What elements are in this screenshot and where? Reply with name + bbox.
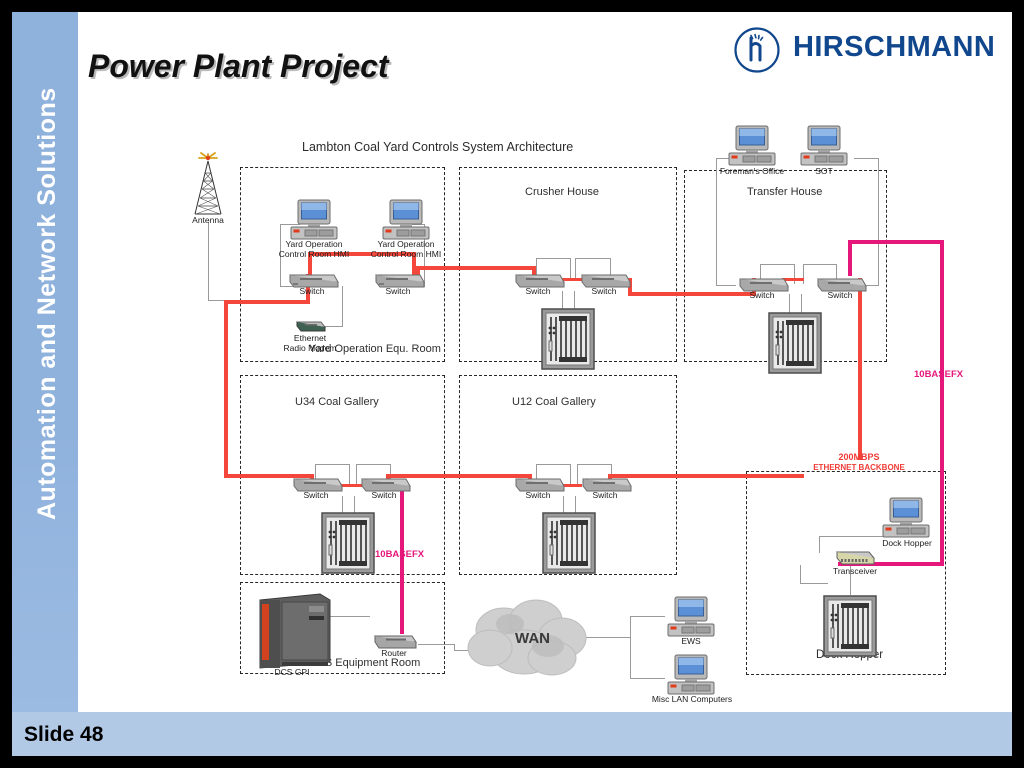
link-crusher-sw1-top	[536, 258, 570, 259]
link-foremans-down	[716, 158, 717, 285]
switch-label: Switch	[284, 491, 348, 501]
link-u34-sw2-top	[356, 464, 390, 465]
wan-label: WAN	[515, 630, 550, 647]
link-dh-xcvr-v	[800, 565, 801, 583]
fiber-left-down	[400, 486, 404, 634]
backbone-u12-to-label	[608, 474, 804, 478]
switch-label: Switch	[506, 491, 570, 501]
backbone-left-top	[224, 300, 310, 304]
zone-label-u12-coal-gallery: U12 Coal Gallery	[512, 396, 596, 408]
backbone-label: 200MBPS ETHERNET BACKBONE	[784, 452, 934, 473]
backbone-label-line2: ETHERNET BACKBONE	[784, 463, 934, 473]
backbone-label-line1: 200MBPS	[784, 452, 934, 463]
switch-label: Switch	[572, 287, 636, 297]
switch-label: Switch	[352, 491, 416, 501]
hmi-1-label-line2: Control Room HMI	[266, 250, 362, 260]
backbone-th-down	[858, 278, 862, 460]
fiber-label-right: 10BASEFX	[914, 369, 963, 380]
antenna-icon	[188, 152, 228, 222]
equipment-rack-icon	[768, 312, 822, 374]
link-th-sw2-top	[803, 264, 836, 265]
link-u12-sw2-top	[577, 464, 611, 465]
switch-label: Switch	[808, 291, 872, 301]
link-dh-pc-v	[819, 536, 820, 553]
transceiver-icon	[833, 549, 877, 567]
misc-lan-label: Misc LAN Computers	[641, 695, 743, 705]
zone-label-u34-coal-gallery: U34 Coal Gallery	[295, 396, 379, 408]
dcs-gpi-label: DCS GPI	[252, 668, 332, 678]
backbone-left-riser	[224, 300, 228, 478]
pc-icon	[726, 124, 778, 168]
switch-label: Switch	[280, 287, 344, 297]
link-crusher-sw2-top	[575, 258, 610, 259]
sot-label: SOT	[798, 167, 850, 177]
pc-icon	[288, 198, 340, 242]
antenna-label: Antenna	[176, 216, 240, 226]
pc-icon	[798, 124, 850, 168]
transceiver-label: Transceiver	[818, 567, 892, 577]
radio-modem-label-line2: Radio Modem	[274, 344, 346, 354]
link-dh-pc-h	[819, 536, 884, 537]
link-router-wan-h	[418, 644, 454, 645]
fiber-right-left-stub	[848, 240, 852, 276]
link-wan-ews	[630, 616, 665, 617]
hmi-2-label: Yard Operation Control Room HMI	[358, 240, 454, 260]
hmi-2-label-line2: Control Room HMI	[358, 250, 454, 260]
link-crusher-sw1-down	[570, 258, 571, 280]
slide-number: Slide 48	[24, 723, 103, 747]
link-foremans-bottom	[716, 285, 736, 286]
router-label: Router	[364, 649, 424, 659]
link-u12-sw1-top	[536, 464, 570, 465]
pc-icon	[380, 198, 432, 242]
equipment-rack-icon	[823, 595, 877, 657]
fiber-label-left: 10BASEFX	[375, 549, 424, 560]
switch-label: Switch	[506, 287, 570, 297]
radio-modem-icon	[293, 319, 327, 333]
pc-icon	[665, 653, 717, 697]
equipment-rack-icon	[321, 512, 375, 574]
zone-label-transfer-house: Transfer House	[747, 186, 822, 198]
link-antenna-down	[208, 222, 209, 300]
fiber-right-down	[940, 240, 944, 566]
ews-label: EWS	[665, 637, 717, 647]
link-sot-down	[878, 158, 879, 285]
diagram-title: Lambton Coal Yard Controls System Archit…	[302, 140, 573, 154]
hmi-1-label: Yard Operation Control Room HMI	[266, 240, 362, 260]
link-th-sw1-down	[794, 264, 795, 284]
link-u12-sw1-down	[570, 464, 571, 484]
pc-icon	[880, 496, 932, 540]
dock-hopper-pc-label: Dock Hopper	[874, 539, 940, 549]
link-th-sw1-top	[760, 264, 794, 265]
link-u34-sw1-down	[349, 464, 350, 484]
network-diagram: Lambton Coal Yard Controls System Archit…	[12, 12, 1012, 712]
foremans-office-label: Foreman's Office	[714, 167, 790, 177]
zone-label-crusher-house: Crusher House	[525, 186, 599, 198]
equipment-rack-icon	[541, 308, 595, 370]
equipment-rack-icon	[542, 512, 596, 574]
link-th-rack-2	[801, 294, 802, 314]
pc-icon	[665, 595, 717, 639]
link-wan-misc	[630, 678, 665, 679]
switch-label: Switch	[730, 291, 794, 301]
link-wan-branch-v	[630, 616, 631, 678]
link-th-sw2-up	[803, 264, 804, 284]
link-sot-top	[854, 158, 879, 159]
link-dh-xcvr-h	[800, 583, 828, 584]
link-u34-sw1-top	[315, 464, 349, 465]
fiber-right-top	[848, 240, 944, 244]
switch-label: Switch	[573, 491, 637, 501]
switch-label: Switch	[366, 287, 430, 297]
dcs-cabinet-icon	[252, 590, 334, 670]
radio-modem-label: Ethernet Radio Modem	[274, 334, 346, 354]
slide-root: Automation and Network Solutions Slide 4…	[0, 0, 1024, 768]
slide-footer: Slide 48	[12, 712, 1012, 756]
